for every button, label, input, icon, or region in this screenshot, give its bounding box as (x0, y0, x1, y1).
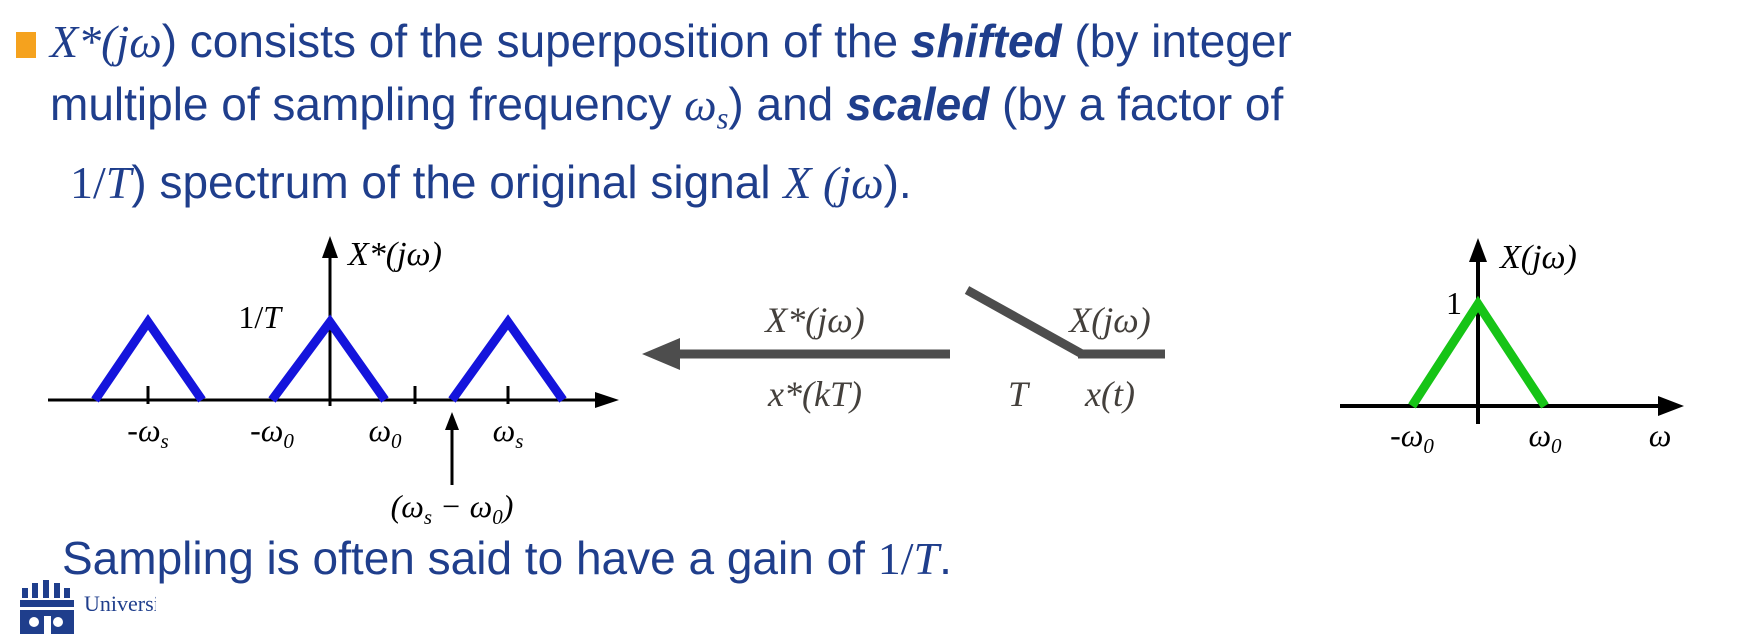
left-chart-tick-label-neg-ws: -ωs (127, 412, 168, 453)
middle-sampler-group: X*(jω) x*(kT) T X(jω) x(t) (642, 290, 1165, 414)
math-x-star-jw-inline: X*(j (50, 16, 129, 67)
closing-text-a: Sampling is often said to have a gain of (62, 532, 878, 584)
body-line-1: X*(jω) consists of the superposition of … (8, 10, 1748, 73)
closing-one-over: 1/ (878, 533, 914, 584)
body-line-3-text-b: ). (884, 156, 912, 208)
bullet-marker-square (16, 32, 36, 58)
closing-statement: Sampling is often said to have a gain of… (62, 530, 952, 587)
right-chart-group: X(jω) 1 -ω0 ω0 ω (1340, 238, 1684, 458)
body-line-1-text-a: ) consists of the superposition of the (162, 15, 911, 67)
middle-left-arrow-bottom-label: x*(kT) (767, 374, 862, 414)
right-chart-title: X(jω) (1498, 239, 1577, 276)
left-chart-tick-label-ws: ωs (493, 412, 524, 453)
left-chart-tick-label-neg-w0: -ω0 (250, 412, 294, 453)
omega-glyph-line2: ω (684, 79, 716, 130)
middle-left-arrowhead (642, 338, 680, 370)
body-line-2-text-a: multiple of sampling frequency (50, 78, 684, 130)
bullet-text-block: X*(jω) consists of the superposition of … (8, 10, 1748, 214)
left-chart-title: X*(jω) (346, 236, 442, 273)
left-chart-callout-arrowhead (445, 412, 459, 430)
right-chart-peak-label: 1 (1446, 285, 1462, 321)
middle-left-arrow-top-label: X*(jω) (763, 300, 864, 340)
right-chart-y-axis-arrowhead (1469, 238, 1487, 262)
closing-T-glyph: T (914, 533, 940, 584)
sampler-period-label: T (1008, 374, 1031, 414)
emphasis-scaled: scaled (846, 78, 989, 130)
omega-glyph-line3: ω (851, 157, 883, 208)
right-chart-x-axis-arrowhead (1658, 396, 1684, 416)
body-line-3-text-a: ) spectrum of the original signal (131, 156, 783, 208)
body-line-2: multiple of sampling frequency ωs) and s… (8, 73, 1748, 151)
middle-right-arrow-top-label: X(jω) (1067, 300, 1150, 340)
university-logo-text: University of (84, 592, 156, 616)
body-line-2-text-b: ) and (728, 78, 846, 130)
body-line-2-text-c: (by a factor of (989, 78, 1283, 130)
university-logo: University of (16, 572, 156, 644)
left-chart-group: X*(jω) 1/T -ωs -ω0 ω0 ωs (ωs − ω0) (48, 236, 619, 528)
omega-subscript-s-line2: s (717, 102, 729, 136)
left-chart-tick-label-w0: ω0 (368, 412, 402, 453)
sampler-switch-blade (967, 290, 1082, 354)
math-jw-open-line3: (j (811, 157, 851, 208)
body-line-3: 1/T) spectrum of the original signal X (… (8, 151, 1748, 214)
math-one-over: 1/ (70, 157, 106, 208)
right-chart-tick-label-w0: ω0 (1528, 417, 1562, 458)
university-crest-icon (16, 572, 78, 634)
sampling-spectrum-figure: X*(jω) 1/T -ωs -ω0 ω0 ωs (ωs − ω0) X*(jω… (0, 228, 1750, 528)
math-T-glyph-line3: T (106, 157, 132, 208)
left-chart-peak-label: 1/T (238, 299, 283, 335)
body-line-1-text-b: (by integer (1062, 15, 1292, 67)
closing-text-b: . (939, 532, 952, 584)
left-chart-callout-label: (ωs − ω0) (391, 488, 514, 528)
left-chart-x-axis-arrowhead (595, 392, 619, 408)
math-X-glyph-line3: X (783, 157, 811, 208)
middle-right-arrow-bottom-label: x(t) (1084, 374, 1135, 414)
omega-glyph-line1: ω (129, 16, 161, 67)
emphasis-shifted: shifted (911, 15, 1062, 67)
left-chart-y-axis-arrowhead (322, 236, 338, 258)
right-chart-axis-label-omega: ω (1649, 417, 1672, 453)
right-chart-tick-label-neg-w0: -ω0 (1390, 417, 1434, 458)
